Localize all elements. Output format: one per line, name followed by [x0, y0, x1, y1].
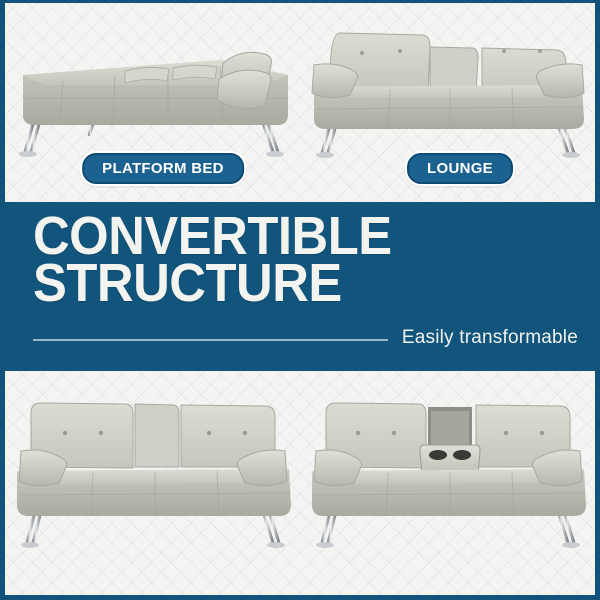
cup-holder-hole-right [453, 450, 471, 460]
leg-foot [19, 151, 37, 157]
headrest-pillows [217, 52, 272, 108]
badge-label: LOUNGE [427, 160, 493, 177]
cup-holder-hole-left [429, 450, 447, 460]
back-cushions [31, 403, 275, 468]
tagline-text: Easily transformable [402, 327, 578, 349]
banner-divider-rule [33, 339, 388, 341]
badge-lounge[interactable]: LOUNGE [407, 153, 513, 184]
feature-panel-lounge: LOUNGE [300, 3, 595, 200]
leg-foot [267, 542, 285, 548]
badge-label: PLATFORM BED [102, 160, 224, 177]
headline-banner: CONVERTIBLE STRUCTURE Easily transformab… [0, 202, 600, 371]
leg-foot [316, 152, 334, 158]
leg-foot [266, 151, 284, 157]
leg-foot [562, 542, 580, 548]
feature-panel-three-seater-futon: 3-SEATER FUTON [5, 371, 300, 595]
cup-holders-illustration [300, 371, 595, 595]
leg-foot [21, 542, 39, 548]
leg-foot [562, 152, 580, 158]
chrome-legs [322, 125, 574, 153]
feature-panel-platform-bed: PLATFORM BED [5, 3, 300, 200]
feature-panel-cup-holders: CUP HOLDERS [300, 371, 595, 595]
three-seater-futon-illustration [5, 371, 300, 595]
headline-text: CONVERTIBLE STRUCTURE [33, 213, 392, 307]
leg-foot [316, 542, 334, 548]
badge-platform-bed[interactable]: PLATFORM BED [82, 153, 244, 184]
product-infographic: PLATFORM BED [0, 0, 600, 600]
chrome-legs [25, 123, 278, 152]
